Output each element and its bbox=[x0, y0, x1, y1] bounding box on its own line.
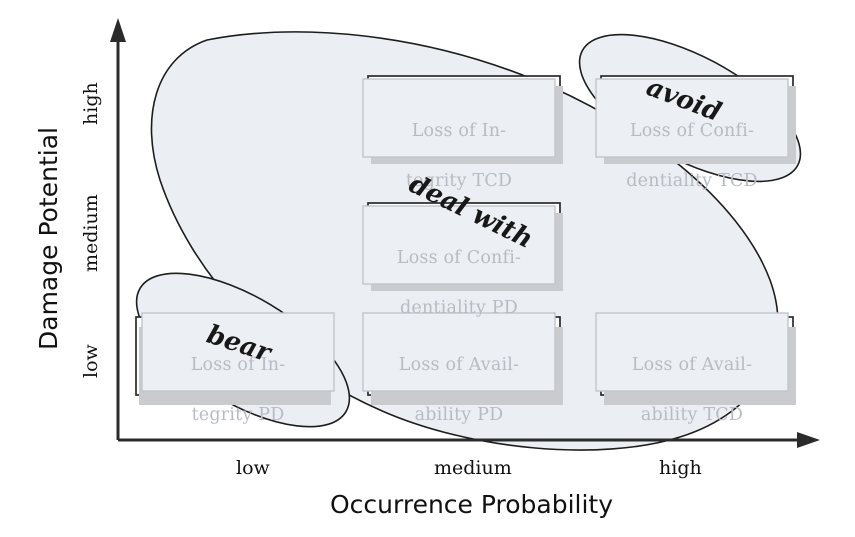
x-tick-medium: medium bbox=[434, 457, 512, 479]
card-integrity-pd bbox=[136, 313, 334, 405]
card-integrity-tcd bbox=[363, 76, 563, 164]
x-tick-low: low bbox=[236, 457, 270, 479]
y-tick-medium: medium bbox=[80, 194, 102, 272]
card-availability-tcd bbox=[596, 313, 796, 405]
card-confidentiality-tcd bbox=[596, 76, 796, 164]
risk-matrix-diagram: Loss of In- tegrity TCD Loss of Confi- d… bbox=[0, 0, 855, 537]
card-confidentiality-pd bbox=[363, 203, 563, 291]
diagram-canvas bbox=[0, 0, 855, 537]
x-axis-title: Occurrence Probability bbox=[330, 490, 613, 519]
y-tick-high: high bbox=[80, 82, 102, 125]
x-tick-high: high bbox=[659, 457, 702, 479]
y-axis bbox=[110, 18, 126, 440]
y-tick-low: low bbox=[80, 344, 102, 378]
y-axis-title: Damage Potential bbox=[34, 127, 63, 350]
card-availability-pd bbox=[363, 313, 563, 405]
